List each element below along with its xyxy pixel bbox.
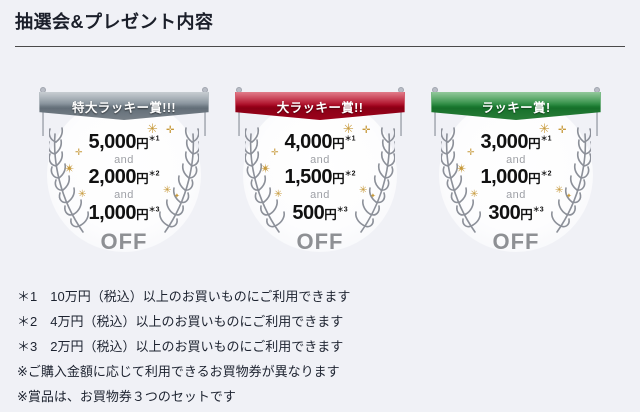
footnote-marker: ＊1 [149, 135, 160, 142]
conjunction-label: and [35, 189, 213, 203]
prize-amount-line: 1,000円＊2 [427, 167, 605, 189]
promo-page: 抽選会&プレゼント内容 特大ラッキー賞!!! [0, 0, 640, 412]
prize-cards: 特大ラッキー賞!!! [0, 80, 640, 260]
off-label: OFF [35, 229, 213, 255]
footnote-marker: ＊1 [541, 135, 552, 142]
footnotes: ＊1 10万円（税込）以上のお買いものにご利用できます ＊2 4万円（税込）以上… [17, 284, 617, 409]
prize-card: 大ラッキー賞!! [231, 80, 409, 260]
prize-amount-value: 3,000 [481, 131, 529, 153]
footnote-marker: ＊2 [345, 171, 356, 178]
footnote-marker: ＊3 [533, 206, 544, 213]
prize-amount-line: 3,000円＊1 [427, 132, 605, 154]
yen-unit: 円 [136, 137, 149, 151]
prize-card: 特大ラッキー賞!!! [35, 80, 213, 260]
prize-amount-line: 500円＊3 [231, 203, 409, 225]
prize-amount-value: 1,000 [89, 202, 137, 224]
prize-banner: 特大ラッキー賞!!! [39, 92, 209, 120]
off-label: OFF [231, 229, 409, 255]
conjunction-label: and [231, 189, 409, 203]
prize-amount-line: 4,000円＊1 [231, 132, 409, 154]
yen-unit: 円 [136, 208, 149, 222]
prize-amount-line: 2,000円＊2 [35, 167, 213, 189]
prize-amount-value: 1,500 [285, 166, 333, 188]
title-divider [15, 46, 625, 47]
prize-banner: 大ラッキー賞!! [235, 92, 405, 120]
footnote-marker: ＊3 [149, 206, 160, 213]
yen-unit: 円 [528, 137, 541, 151]
prize-amount-line: 5,000円＊1 [35, 132, 213, 154]
footnote-line: ＊3 2万円（税込）以上のお買いものにご利用できます [17, 334, 617, 359]
footnote-line: ＊1 10万円（税込）以上のお買いものにご利用できます [17, 284, 617, 309]
conjunction-label: and [231, 154, 409, 168]
footnote-line: ※ご購入金額に応じて利用できるお買物券が異なります [17, 359, 617, 384]
prize-amount-value: 500 [292, 202, 324, 224]
yen-unit: 円 [520, 208, 533, 222]
prize-amount-value: 300 [488, 202, 520, 224]
off-label: OFF [427, 229, 605, 255]
footnote-line: ＊2 4万円（税込）以上のお買いものにご利用できます [17, 309, 617, 334]
yen-unit: 円 [324, 208, 337, 222]
yen-unit: 円 [528, 172, 541, 186]
footnote-line: ※賞品は、お買物券３つのセットです [17, 384, 617, 409]
prize-amounts: 3,000円＊1 and 1,000円＊2 and 300円＊3 OFF [427, 132, 605, 255]
prize-amounts: 5,000円＊1 and 2,000円＊2 and 1,000円＊3 OFF [35, 132, 213, 255]
prize-amount-value: 2,000 [89, 166, 137, 188]
page-title: 抽選会&プレゼント内容 [15, 8, 214, 34]
prize-amount-line: 300円＊3 [427, 203, 605, 225]
prize-amount-line: 1,500円＊2 [231, 167, 409, 189]
conjunction-label: and [427, 189, 605, 203]
prize-banner: ラッキー賞! [431, 92, 601, 120]
prize-amount-value: 4,000 [285, 131, 333, 153]
prize-amounts: 4,000円＊1 and 1,500円＊2 and 500円＊3 OFF [231, 132, 409, 255]
footnote-marker: ＊1 [345, 135, 356, 142]
footnote-marker: ＊2 [541, 171, 552, 178]
prize-amount-value: 5,000 [89, 131, 137, 153]
footnote-marker: ＊3 [337, 206, 348, 213]
prize-card: ラッキー賞! [427, 80, 605, 260]
yen-unit: 円 [136, 172, 149, 186]
yen-unit: 円 [332, 137, 345, 151]
yen-unit: 円 [332, 172, 345, 186]
conjunction-label: and [427, 154, 605, 168]
conjunction-label: and [35, 154, 213, 168]
footnote-marker: ＊2 [149, 171, 160, 178]
prize-banner-label: 特大ラッキー賞!!! [72, 97, 176, 116]
prize-amount-value: 1,000 [481, 166, 529, 188]
prize-banner-label: 大ラッキー賞!! [277, 97, 364, 116]
prize-banner-label: ラッキー賞! [481, 97, 550, 116]
prize-amount-line: 1,000円＊3 [35, 203, 213, 225]
